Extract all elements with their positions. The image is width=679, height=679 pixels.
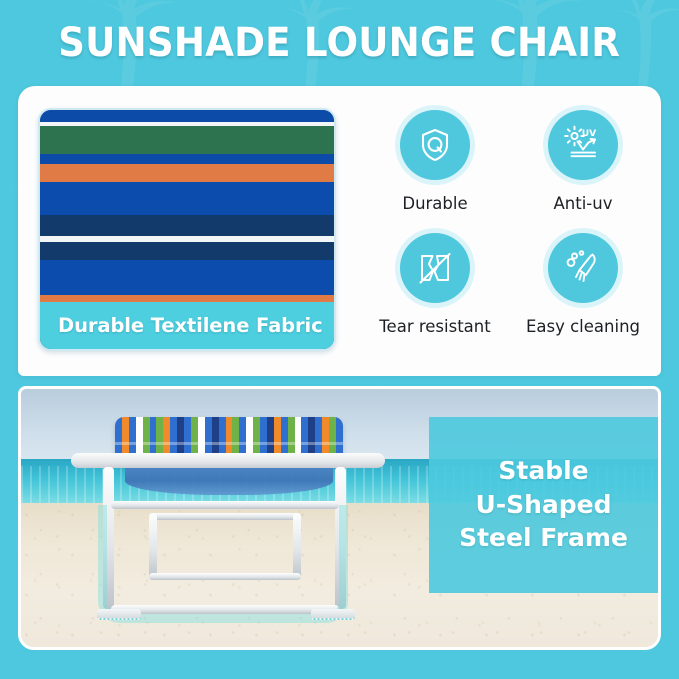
caption-line-2: U-Shaped (475, 490, 611, 521)
fabric-stripe (40, 126, 334, 154)
fabric-caption-text: Durable Textilene Fabric (58, 314, 323, 337)
shield-quality-icon (400, 110, 470, 180)
infographic-page: SUNSHADE LOUNGE CHAIR Durable Textilene … (0, 0, 679, 679)
feature-grid: Durable UV Anti-uv (363, 110, 655, 350)
frame-caption-overlay: Stable U-Shaped Steel Frame (429, 417, 658, 593)
fabric-stripe (40, 182, 334, 215)
feature-label: Tear resistant (379, 317, 490, 336)
foot-left (97, 609, 141, 620)
caption-line-1: Stable (498, 456, 588, 487)
feature-label: Easy cleaning (526, 317, 640, 336)
feature-label: Anti-uv (554, 194, 613, 213)
features-card: Durable Textilene Fabric Durable (18, 86, 661, 376)
fabric-swatch: Durable Textilene Fabric (38, 108, 336, 351)
fabric-stripe (40, 110, 334, 122)
page-title: SUNSHADE LOUNGE CHAIR (59, 20, 621, 66)
feature-label: Durable (402, 194, 467, 213)
fabric-stripe (40, 154, 334, 163)
lounge-chair (63, 409, 393, 635)
feature-durable[interactable]: Durable (363, 110, 507, 227)
feature-tear-resistant[interactable]: Tear resistant (363, 233, 507, 350)
cushion-fold-line (115, 442, 343, 445)
feature-easy-cleaning[interactable]: Easy cleaning (511, 233, 655, 350)
anti-uv-icon: UV (548, 110, 618, 180)
arm-rest-bar (71, 453, 385, 468)
feature-anti-uv[interactable]: UV Anti-uv (511, 110, 655, 227)
fabric-stripe (40, 215, 334, 236)
fabric-caption-band: Durable Textilene Fabric (40, 302, 334, 349)
fabric-stripe (40, 164, 334, 183)
fabric-stripe (40, 242, 334, 261)
header: SUNSHADE LOUNGE CHAIR (0, 0, 679, 86)
beach-scene-photo: Stable U-Shaped Steel Frame (21, 389, 658, 647)
tear-resistant-icon (400, 233, 470, 303)
brush-cleaning-icon (548, 233, 618, 303)
u-shape-highlight (98, 505, 348, 623)
caption-line-3: Steel Frame (459, 523, 628, 554)
svg-text:UV: UV (582, 128, 597, 139)
foot-right (311, 609, 355, 620)
product-photo-card: Stable U-Shaped Steel Frame (18, 386, 661, 650)
fabric-stripe (40, 260, 334, 295)
